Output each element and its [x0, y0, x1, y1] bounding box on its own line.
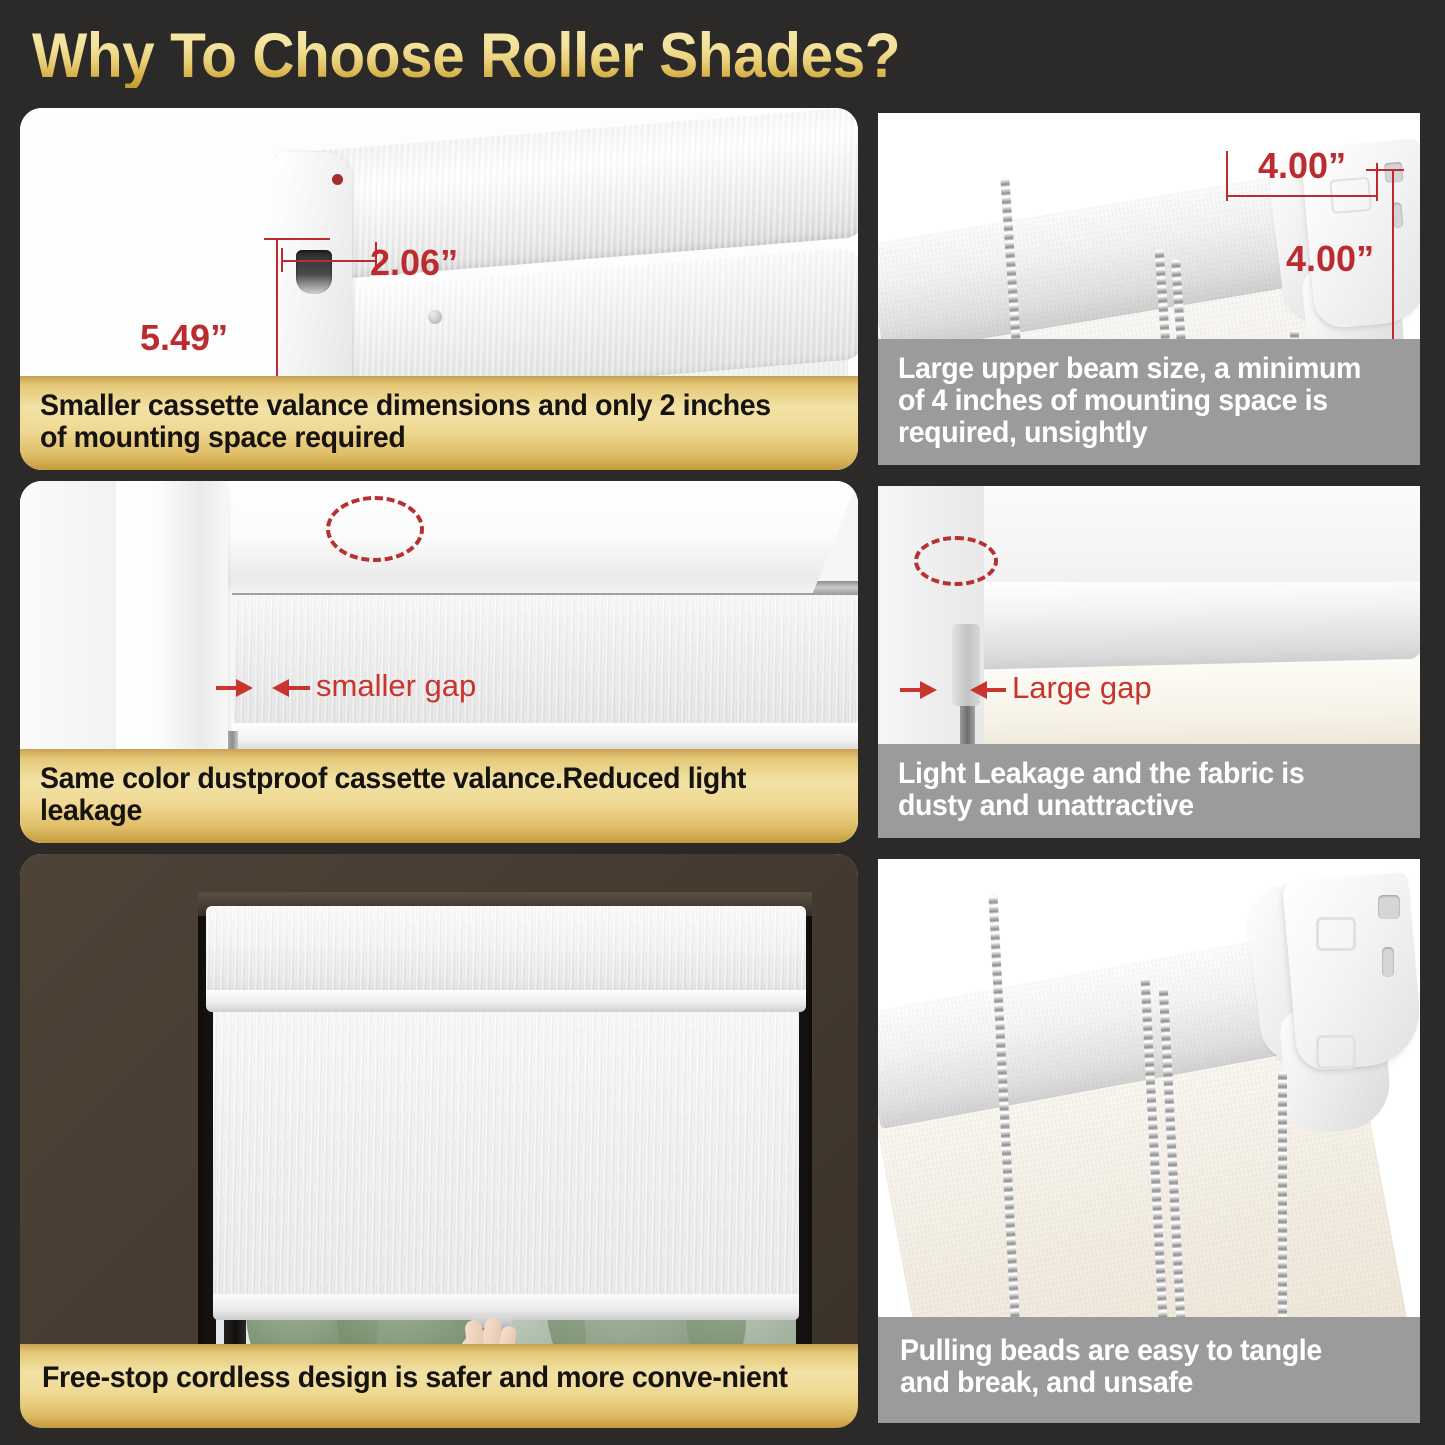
gap-label-large: Large gap	[1012, 670, 1152, 706]
upper-beam-headrail	[960, 571, 1420, 670]
comparison-grid: 2.06” 5.49” Smaller cassette valance dim…	[20, 108, 1425, 1428]
cassette-valance	[206, 906, 806, 1002]
endcap-slot	[296, 250, 332, 294]
width-dimension-line	[281, 260, 377, 262]
roller-shade-fabric	[213, 1010, 799, 1306]
bead-chain-right	[1278, 1071, 1287, 1339]
panel-caption-bar: Smaller cassette valance dimensions and …	[20, 376, 858, 470]
page-title-text: Why To Choose Roller Shades?	[32, 25, 900, 88]
gap-arrow-right-tail	[288, 686, 310, 690]
panel-caption-text: Light Leakage and the fabric is dusty an…	[898, 758, 1377, 822]
panel-caption-bar: Light Leakage and the fabric is dusty an…	[878, 744, 1420, 838]
height-dimension-tick-top	[264, 238, 330, 240]
endcap-red-marker	[332, 174, 343, 185]
gap-arrow-left-head-icon	[236, 679, 253, 697]
panel-caption-bar: Free-stop cordless design is safer and m…	[20, 1344, 858, 1428]
room-window-photo	[20, 854, 858, 1428]
panel-cassette-dimensions: 2.06” 5.49” Smaller cassette valance dim…	[20, 108, 858, 470]
gap-label-smaller: smaller gap	[316, 668, 476, 704]
bracket-embossing-upper	[1316, 917, 1356, 951]
panel-large-gap: Large gap Light Leakage and the fabric i…	[873, 481, 1425, 843]
width-dimension-tick-left	[281, 248, 283, 272]
bracket-embossing-lower	[1316, 1035, 1356, 1069]
beam-height-tick-top	[1366, 169, 1404, 171]
gap-arrow-right-head-icon	[272, 679, 289, 697]
panel-caption-bar: Pulling beads are easy to tangle and bre…	[878, 1317, 1420, 1423]
height-dimension-label: 5.49”	[140, 317, 228, 359]
panel-cordless-design: Free-stop cordless design is safer and m…	[20, 854, 858, 1428]
valance-lip	[206, 990, 806, 1012]
beam-width-dimension-line	[1226, 195, 1378, 197]
beam-width-dimension-label: 4.00”	[1258, 145, 1346, 187]
gap-highlight-ellipse-icon	[326, 496, 424, 562]
panel-caption-text: Large upper beam size, a minimum of 4 in…	[898, 353, 1377, 449]
panel-smaller-gap: smaller gap Same color dustproof cassett…	[20, 481, 858, 843]
gap-arrow-left-head-icon	[920, 681, 937, 699]
bracket-slot-upper	[1378, 895, 1400, 919]
panel-caption-bar: Large upper beam size, a minimum of 4 in…	[878, 339, 1420, 465]
gap-arrow-left-tail	[900, 688, 922, 692]
window-frame-top	[125, 481, 858, 593]
gap-arrow-right-head-icon	[970, 681, 987, 699]
panel-caption-text: Same color dustproof cassette valance.Re…	[40, 763, 800, 827]
infographic-page: Why To Choose Roller Shades?	[0, 0, 1445, 1445]
beam-height-dimension-label: 4.00”	[1286, 238, 1374, 280]
gap-arrow-right-tail	[986, 688, 1006, 692]
panel-caption-text: Free-stop cordless design is safer and m…	[42, 1362, 800, 1394]
bracket-slot-lower	[1382, 947, 1394, 977]
beam-width-tick-left	[1226, 151, 1228, 201]
endcap-screw-upper	[428, 310, 442, 324]
beam-height-dimension-line	[1392, 169, 1394, 349]
panel-caption-text: Smaller cassette valance dimensions and …	[40, 390, 800, 454]
panel-caption-text: Pulling beads are easy to tangle and bre…	[900, 1335, 1377, 1399]
width-dimension-label: 2.06”	[370, 242, 458, 284]
gap-arrow-left-tail	[216, 686, 238, 690]
gap-highlight-ellipse-icon	[914, 536, 998, 586]
panel-caption-bar: Same color dustproof cassette valance.Re…	[20, 749, 858, 843]
page-title: Why To Choose Roller Shades?	[32, 16, 965, 96]
panel-large-beam: 4.00” 4.00” Large upper beam size, a min…	[873, 108, 1425, 470]
panel-pulling-beads: Pulling beads are easy to tangle and bre…	[873, 854, 1425, 1428]
